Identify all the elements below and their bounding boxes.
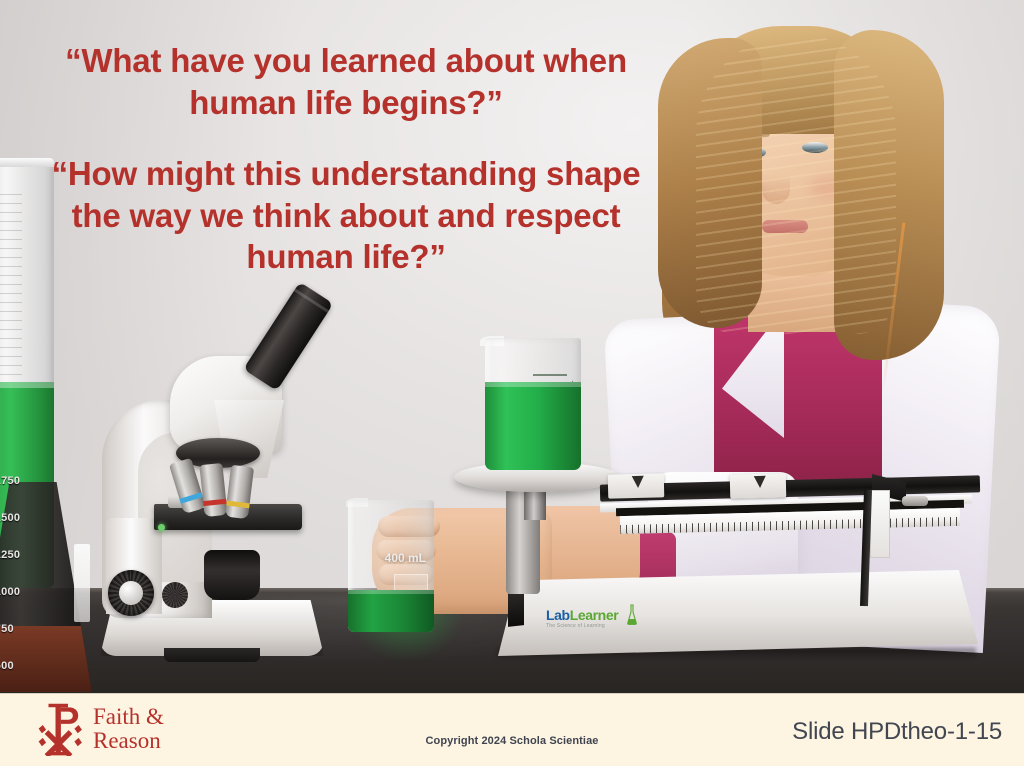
flask-grad-750: 750 (0, 624, 20, 635)
faith-and-reason-brand: Faith & Reason (34, 702, 164, 756)
question-1: “What have you learned about when human … (36, 40, 656, 123)
slide-number: Slide HPDtheo-1-15 (792, 720, 1002, 744)
slide-footer: Faith & Reason Copyright 2024 Schola Sci… (0, 693, 1024, 766)
lablearner-lab-text: Lab (546, 607, 570, 623)
flask-grad-1500: 1500 (0, 513, 20, 524)
microscope-foot (164, 648, 260, 662)
large-beaker-liquid (485, 382, 581, 470)
triple-beam-balance: LabLearner The Science of Learning (440, 452, 980, 682)
microscope-indicator-light (158, 524, 165, 531)
balance-rider-right[interactable] (730, 473, 787, 498)
balance-pointer-scale (870, 490, 890, 558)
beaker-on-balance-pan: APPROX. VOL (485, 338, 581, 470)
large-beaker-grad-1 (533, 374, 567, 376)
microscope-objective-red (199, 463, 227, 517)
slide: 1750 1500 1250 1000 750 500 (0, 0, 1024, 766)
microscope-condenser (204, 550, 260, 600)
flask-grad-1000: 1000 (0, 587, 20, 598)
microscope-eyepiece (243, 282, 333, 391)
chi-rho-icon (34, 702, 84, 756)
beaker-in-hand: 400 mL (348, 500, 434, 632)
flask-icon (626, 604, 638, 626)
hair-highlights (696, 34, 896, 334)
microscope-coarse-focus-knob (108, 570, 154, 616)
question-2: “How might this understanding shape the … (36, 153, 656, 278)
microscope-fine-focus-knob (162, 582, 188, 608)
flask-grad-1250: 1250 (0, 550, 20, 561)
microscope-label (74, 544, 90, 622)
lablearner-learner-text: Learner (570, 607, 619, 623)
flask-grad-1750: 1750 (0, 476, 20, 487)
flask-grad-500: 500 (0, 661, 20, 672)
discussion-questions: “What have you learned about when human … (36, 40, 656, 278)
microscope (72, 282, 352, 674)
small-beaker-liquid (348, 590, 434, 632)
slide-photo: 1750 1500 1250 1000 750 500 (0, 0, 1024, 693)
lablearner-logo: LabLearner The Science of Learning (546, 608, 618, 629)
lablearner-tagline: The Science of Learning (546, 624, 618, 629)
balance-zero-adjust-screw[interactable] (902, 496, 928, 506)
small-beaker-volume-label: 400 mL (385, 552, 426, 564)
balance-rider-left[interactable] (608, 473, 665, 498)
balance-base-slot (508, 591, 524, 627)
flask-graduations: 1750 1500 1250 1000 750 500 (0, 476, 20, 672)
